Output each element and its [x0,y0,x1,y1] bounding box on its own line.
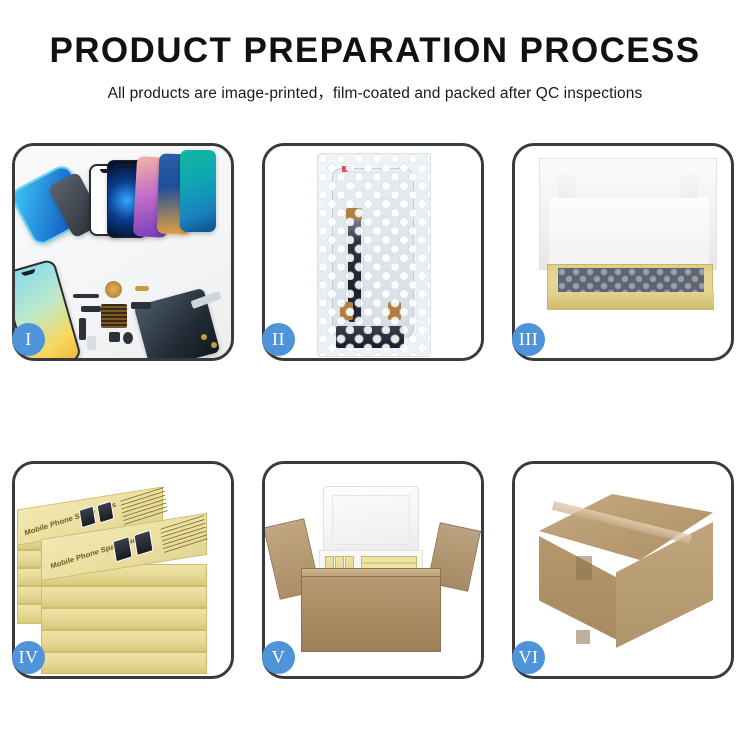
step-badge-v: V [262,641,295,674]
bubble-wrap-bag [317,153,431,357]
step-badge-i: I [12,323,45,356]
styrofoam-lid [323,486,419,554]
vibrator-part [123,332,133,344]
step-panel-ii: II [262,143,484,361]
step-panel-i: I [12,143,234,361]
stacked-box [41,608,207,630]
page-title: PRODUCT PREPARATION PROCESS [0,32,750,71]
box-printed-screen [79,505,97,528]
step-image-carton-with-styrofoam [265,464,481,676]
page-subtitle: All products are image-printed，film-coat… [0,81,750,103]
step-badge-iv: IV [12,641,45,674]
step-image-open-flat-box [515,146,731,358]
carton-body [301,576,441,652]
step-image-bubble-wrapped-screen [265,146,481,358]
carton-seam-patch [576,556,592,580]
notch-icon [21,269,35,276]
yellow-box-tray [547,264,713,310]
step-image-sealed-carton [515,464,731,676]
stacked-box [41,630,207,652]
header: PRODUCT PREPARATION PROCESS All products… [0,0,750,103]
step-badge-ii: II [262,323,295,356]
step-image-stacked-boxes: Mobile Phone Spare Parts Mobile Phone Sp… [15,464,231,676]
step-image-phone-parts [15,146,231,358]
box-spec-lines [160,515,208,554]
box-printed-screen [112,536,132,563]
button-part [109,332,120,342]
screw-part [211,342,217,348]
step-panel-v: V [262,461,484,679]
small-flex-part [81,306,101,312]
ribbon-cable-part [79,318,86,340]
flex-connector-part [135,286,149,291]
notch-icon [120,164,134,168]
styrofoam-lid-inner [332,495,410,545]
bubble-texture-overlay [318,154,430,356]
box-printed-screen [97,501,115,524]
camera-flex-part [131,302,151,309]
step-panel-vi: VI [512,461,734,679]
speaker-coil-part [105,281,122,298]
carton-seam-patch [576,630,590,644]
product-preparation-infographic: PRODUCT PREPARATION PROCESS All products… [0,0,750,750]
earpiece-mesh-part [73,294,99,298]
box-printed-screen [133,530,153,557]
tray-front-lip [548,292,714,310]
stacked-box [41,652,207,674]
carton-left-face [539,536,617,640]
step-panel-iv: Mobile Phone Spare Parts Mobile Phone Sp… [12,461,234,679]
step-badge-vi: VI [512,641,545,674]
process-steps-grid: I II [12,143,734,679]
stacked-box [41,586,207,608]
grey-bubble-wrap-contents [558,268,704,292]
box-stack: Mobile Phone Spare Parts Mobile Phone Sp… [15,464,231,676]
phone-teal-screen [180,150,216,232]
step-panel-iii: III [512,143,734,361]
chip-grid-part [101,304,127,328]
screw-part [201,334,207,340]
step-badge-iii: III [512,323,545,356]
sim-tray-part [87,336,96,350]
